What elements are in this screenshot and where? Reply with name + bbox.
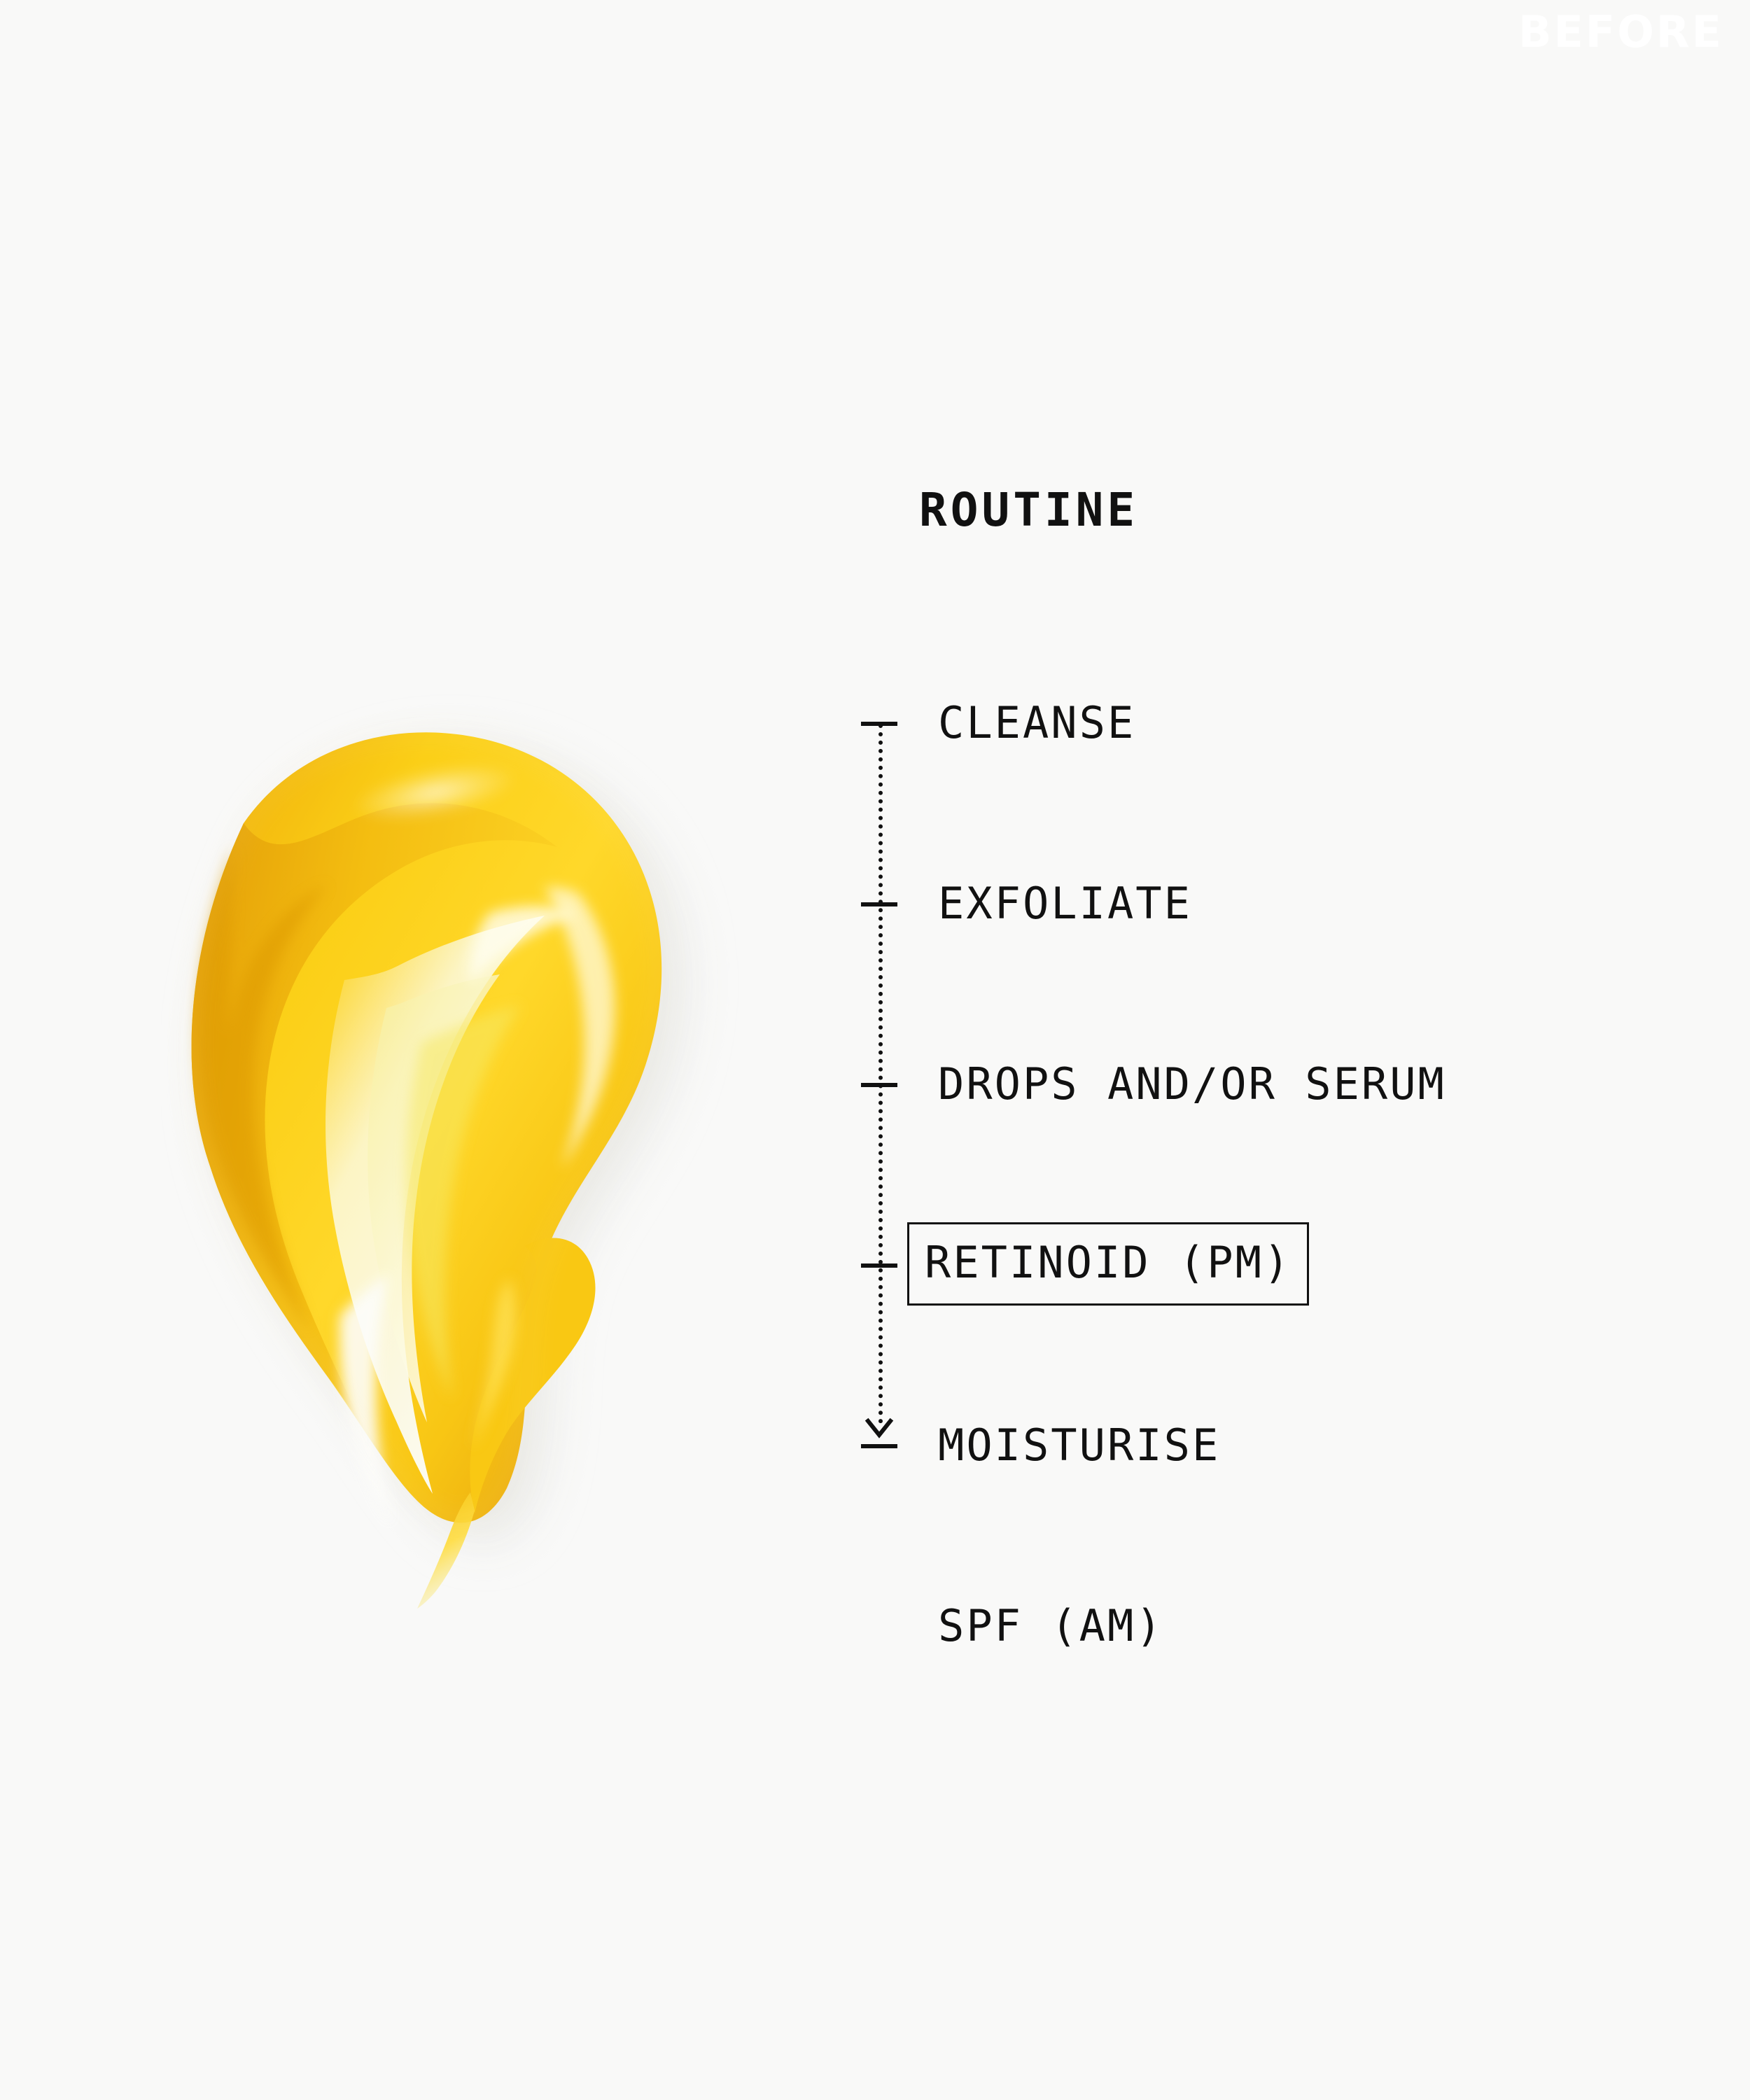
poster-canvas: BEFORE — [0, 0, 1750, 2100]
routine-panel: ROUTINE CLEANSE EXFOLIATE DROPS AND/OR S… — [861, 483, 1645, 1687]
routine-step-label: SPF (AM) — [938, 1600, 1164, 1651]
yellow-cream-smear-icon — [161, 616, 763, 1610]
step-tick-icon — [861, 902, 897, 906]
routine-step-label: DROPS AND/OR SERUM — [938, 1058, 1446, 1109]
routine-step-retinoid[interactable]: RETINOID (PM) — [861, 1226, 1645, 1305]
page-title: ROUTINE — [919, 483, 1138, 537]
routine-step-label: CLEANSE — [938, 697, 1135, 748]
routine-step-label: MOISTURISE — [938, 1420, 1220, 1471]
routine-step-spf[interactable]: SPF (AM) — [861, 1588, 1645, 1666]
product-swatch — [161, 616, 763, 1610]
step-tick-icon — [861, 722, 897, 726]
routine-step-label: EXFOLIATE — [938, 878, 1192, 929]
step-tick-icon — [861, 1263, 897, 1268]
routine-step-drops-serum[interactable]: DROPS AND/OR SERUM — [861, 1046, 1645, 1124]
routine-step-cleanse[interactable]: CLEANSE — [861, 685, 1645, 763]
step-tick-icon — [861, 1083, 897, 1087]
step-tick-icon — [861, 1444, 897, 1448]
watermark-before: BEFORE — [1518, 8, 1723, 56]
routine-step-exfoliate[interactable]: EXFOLIATE — [861, 865, 1645, 944]
routine-step-label-highlighted: RETINOID (PM) — [907, 1222, 1309, 1305]
routine-step-moisturise[interactable]: MOISTURISE — [861, 1407, 1645, 1485]
